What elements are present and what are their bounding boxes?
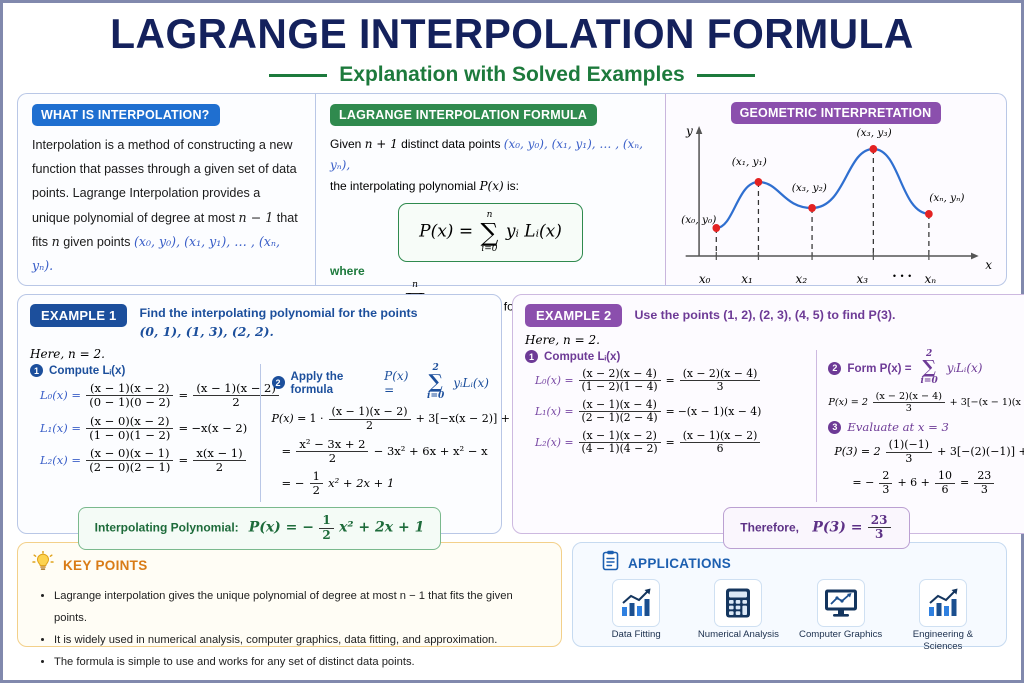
example2-L2-den2: 6 [680, 443, 761, 455]
example2-eval2-den3: 3 [974, 484, 994, 497]
example1-result-frac: 1 2 [319, 514, 333, 543]
example1-step2-label: Apply the formula [291, 370, 379, 396]
example2-prompt: Use the points (1, 2), (2, 3), (4, 5) to… [634, 304, 895, 325]
summation-icon: n ∑ i=0 [481, 211, 499, 254]
example2-sum-body: yᵢLᵢ(x) [947, 361, 983, 375]
example1-apply-coef: 1 · [309, 412, 323, 425]
example1-L1-num: (x − 0)(x − 2) [86, 415, 173, 429]
example2-result-num: 23 [868, 514, 891, 529]
example1-apply-line2: = x² − 3x + 2 2 − 3x² + 6x + x² − x [282, 438, 490, 465]
example1-L0: L₀(x) = (x − 1)(x − 2) (0 − 1)(0 − 2) = … [40, 382, 252, 409]
example2-form-frac1: (x − 2)(x − 4) 3 [873, 391, 945, 414]
example1-sum-body: yᵢLᵢ(x) [453, 376, 489, 390]
example1-L2-num2: x(x − 1) [193, 447, 245, 461]
badge-lagrange-formula: LAGRANGE INTERPOLATION FORMULA [330, 104, 597, 126]
example2-eval-num1: (1)(−1) [886, 439, 932, 453]
key-points-list: Lagrange interpolation gives the unique … [54, 586, 547, 673]
example2-L0-num2: (x − 2)(x − 4) [680, 368, 761, 381]
example1-line3-rest: x² + 2x + 1 [328, 476, 394, 490]
step-number-3: 3 [828, 421, 841, 434]
panel-geometric-interpretation: GEOMETRIC INTERPRETATION [665, 93, 1007, 286]
example1-result-num: 1 [319, 514, 333, 529]
example1-L1-den: (1 − 0)(1 − 2) [86, 429, 173, 442]
example1-here: Here, n = 2. [30, 347, 489, 361]
example2-L0-lhs: L₀(x) = [535, 374, 574, 387]
example1-line3-den: 2 [310, 484, 323, 497]
list-item: Lagrange interpolation gives the unique … [54, 586, 547, 630]
rule-left-icon [269, 74, 327, 77]
step-number-2: 2 [828, 362, 841, 375]
bar-chart-arrow-icon [919, 579, 967, 627]
example1-apply-line3: = − 1 2 x² + 2x + 1 [282, 470, 490, 497]
point-label-n: (xₙ, yₙ) [929, 192, 964, 204]
example1-L2-eq: = [179, 453, 189, 467]
example2-step2-header: 2 Form P(x) = 2 ∑ i=0 yᵢLᵢ(x) [828, 350, 1024, 386]
example1-result-box: Interpolating Polynomial: P(x) = − 1 2 x… [78, 507, 442, 550]
monitor-chart-svg [823, 588, 859, 618]
application-item-engineering-sciences[interactable]: Engineering & Sciences [893, 579, 993, 653]
example2-eval-lhs: P(3) = 2 [834, 445, 880, 458]
formula-intro-b: distinct data points [398, 137, 504, 151]
badge-example-2: EXAMPLE 2 [525, 304, 622, 327]
application-label: Data Fitting [586, 629, 686, 641]
interpolation-curve-chart: y x x₀ x₁ x₂ x₃ • • • xₙ (x₀, y₀) (x₁, y… [678, 124, 994, 282]
example2-eval2-eq2: = [960, 476, 969, 489]
example2-L2-lhs: L₂(x) = [535, 435, 574, 448]
example1-L1: L₁(x) = (x − 0)(x − 2) (1 − 0)(1 − 2) = … [40, 415, 252, 442]
example1-apply-frac1: (x − 1)(x − 2) 2 [329, 406, 411, 432]
example2-result-box: Therefore, P(3) = 23 3 [723, 507, 909, 550]
interpolation-text-3: given points [60, 235, 134, 249]
example2-L1: L₁(x) = (x − 1)(x − 4) (2 − 1)(2 − 4) = … [535, 399, 808, 425]
example2-form-line: P(x) = 2 (x − 2)(x − 4) 3 + 3[−(x − 1)(x… [828, 391, 1024, 414]
example1-L2-lhs: L₂(x) = [40, 453, 81, 467]
example2-L0: L₀(x) = (x − 2)(x − 4) (1 − 2)(1 − 4) = … [535, 368, 808, 394]
example2-L0-den2: 3 [680, 381, 761, 393]
main-formula-lhs: P(x) = [419, 222, 473, 242]
example2-L1-num: (x − 1)(x − 4) [579, 399, 661, 412]
step-number-1: 1 [525, 350, 538, 363]
summation-icon: 2 ∑ i=0 [921, 350, 938, 386]
tick-label-x3: x₃ [857, 272, 869, 286]
example2-L1-res: −(x − 1)(x − 4) [678, 405, 762, 418]
example2-eval2-frac2: 10 6 [935, 470, 955, 496]
example1-prompt-line1: Find the interpolating polynomial for th… [139, 306, 417, 320]
infographic-poster: LAGRANGE INTERPOLATION FORMULA Explanati… [0, 0, 1024, 683]
example2-eval2-mid: + 6 + [897, 476, 929, 489]
interpolation-degree: n − 1 [239, 210, 274, 225]
example2-sum-lower: i=0 [921, 377, 938, 386]
page-subtitle: Explanation with Solved Examples [339, 63, 684, 87]
example2-L1-frac: (x − 1)(x − 4) (2 − 1)(2 − 4) [579, 399, 661, 425]
point-label-3: (x₃, y₃) [857, 127, 892, 139]
step-number-1: 1 [30, 364, 43, 377]
summation-icon: 2 ∑ i=0 [427, 364, 444, 401]
badge-geometric-interpretation: GEOMETRIC INTERPRETATION [731, 102, 942, 124]
panel-example-1: EXAMPLE 1 Find the interpolating polynom… [17, 294, 502, 534]
calculator-svg [724, 587, 752, 619]
example2-eval2-eq: = − [852, 476, 874, 489]
example1-L2-frac1: (x − 0)(x − 1) (2 − 0)(2 − 1) [86, 447, 173, 474]
formula-intro-P: P(x) [479, 179, 503, 193]
example1-columns: 1 Compute Lᵢ(x) L₀(x) = (x − 1)(x − 2) (… [30, 364, 489, 502]
example2-form-lhs: P(x) = 2 [828, 397, 868, 408]
example1-result-lhs: P(x) = − [249, 520, 314, 536]
list-item: The formula is simple to use and works f… [54, 652, 547, 674]
example1-L2-den2: 2 [193, 461, 245, 474]
formula-intro-c: the interpolating polynomial [330, 179, 479, 193]
example2-form-num1: (x − 2)(x − 4) [873, 391, 945, 403]
example2-header: EXAMPLE 2 Use the points (1, 2), (2, 3),… [525, 304, 1024, 327]
example1-result-rest: x² + 2x + 1 [339, 520, 424, 536]
example1-result-label: Interpolating Polynomial: [95, 521, 239, 535]
ellipsis-icon: • • • [893, 271, 912, 281]
bar-chart-arrow-svg [926, 587, 960, 619]
application-label: Numerical Analysis [688, 629, 788, 641]
application-label: Engineering & Sciences [893, 629, 993, 653]
example2-form-mid: + 3[−(x − 1)(x − 4)] + 5 · [950, 397, 1024, 408]
example2-here: Here, n = 2. [525, 333, 1024, 347]
page-title: LAGRANGE INTERPOLATION FORMULA [32, 13, 992, 55]
example2-eval-mid: + 3[−(2)(−1)] + 5 [937, 445, 1024, 458]
example1-L0-lhs: L₀(x) = [40, 388, 81, 402]
example1-L1-res: −x(x − 2) [191, 420, 247, 434]
example2-L1-eq: = [666, 405, 675, 418]
example1-step2-header: 2 Apply the formula P(x) = 2 ∑ i=0 yᵢLᵢ(… [272, 364, 490, 401]
example2-L2: L₂(x) = (x − 1)(x − 2) (4 − 1)(4 − 2) = … [535, 430, 808, 456]
monitor-chart-icon [817, 579, 865, 627]
key-points-header: KEY POINTS [32, 551, 547, 580]
example1-L0-eq: = [179, 388, 189, 402]
example2-L1-lhs: L₁(x) = [535, 405, 574, 418]
example2-L1-den: (2 − 1)(2 − 4) [579, 412, 661, 424]
example1-step1-column: 1 Compute Lᵢ(x) L₀(x) = (x − 1)(x − 2) (… [30, 364, 260, 502]
sigma-glyph: ∑ [429, 373, 443, 392]
example1-result-bar: Interpolating Polynomial: P(x) = − 1 2 x… [30, 507, 489, 550]
badge-example-1: EXAMPLE 1 [30, 304, 127, 327]
example2-step1-header: 1 Compute Lᵢ(x) [525, 350, 808, 363]
formula-intro-d: is: [504, 179, 519, 193]
example2-L0-eq: = [666, 374, 675, 387]
formula-intro-n: n + 1 [365, 137, 398, 151]
calculator-icon [714, 579, 762, 627]
subtitle-row: Explanation with Solved Examples [17, 63, 1007, 87]
example1-line2-num: x² − 3x + 2 [296, 438, 368, 452]
tick-label-x0: x₀ [699, 272, 711, 286]
point-label-0: (x₀, y₀) [681, 214, 716, 226]
example1-L0-den1: (0 − 1)(0 − 2) [86, 396, 173, 409]
example2-L0-frac2: (x − 2)(x − 4) 3 [680, 368, 761, 394]
example2-L0-den1: (1 − 2)(1 − 4) [579, 381, 661, 393]
example1-L2-num1: (x − 0)(x − 1) [86, 447, 173, 461]
example1-line2-frac: x² − 3x + 2 2 [296, 438, 368, 465]
example1-L2-den1: (2 − 0)(2 − 1) [86, 461, 173, 474]
step-number-2: 2 [272, 376, 285, 389]
list-item: It is widely used in numerical analysis,… [54, 630, 547, 652]
application-item-data-fitting[interactable]: Data Fitting [586, 579, 686, 653]
panel-applications: APPLICATIONS Data Fitting [572, 542, 1007, 647]
example1-apply-line1: P(x) = 1 · (x − 1)(x − 2) 2 + 3[−x(x − 2… [272, 406, 490, 432]
example1-line2-den: 2 [296, 452, 368, 465]
example1-apply-den1: 2 [329, 420, 411, 433]
example2-step3-label: Evaluate at x = 3 [847, 420, 948, 434]
example1-header: EXAMPLE 1 Find the interpolating polynom… [30, 304, 489, 341]
example2-L2-num1: (x − 1)(x − 2) [579, 430, 661, 443]
example2-result-den: 3 [868, 528, 891, 542]
interpolation-n: n [52, 234, 60, 249]
lightbulb-icon [32, 551, 54, 580]
applications-header: APPLICATIONS [601, 550, 994, 576]
example1-apply-lhs: P(x) = [272, 412, 307, 425]
example1-L1-eq: = [179, 420, 189, 434]
example2-eval-frac1: (1)(−1) 3 [886, 439, 932, 465]
panel-what-is-interpolation: WHAT IS INTERPOLATION? Interpolation is … [17, 93, 315, 286]
example2-result-bar: Therefore, P(3) = 23 3 [525, 507, 1024, 550]
example1-L1-lhs: L₁(x) = [40, 420, 81, 434]
example1-line3-frac: 1 2 [310, 470, 323, 497]
example1-line2-eq: = [282, 443, 292, 457]
lightbulb-svg [32, 551, 54, 575]
tick-label-x1: x₁ [741, 272, 753, 286]
clipboard-svg [601, 550, 620, 571]
example2-L2-den1: (4 − 1)(4 − 2) [579, 443, 661, 455]
applications-items: Data Fitting [585, 579, 994, 653]
tick-label-x2: x₂ [796, 272, 808, 286]
example2-step1-column: 1 Compute Lᵢ(x) L₀(x) = (x − 2)(x − 4) (… [525, 350, 816, 502]
bar-chart-trend-svg [619, 587, 653, 619]
example2-L2-num2: (x − 1)(x − 2) [680, 430, 761, 443]
rule-right-icon [697, 74, 755, 77]
example1-apply-mid: + 3[−x(x − 2)] + 2 · [416, 412, 528, 425]
example1-L2: L₂(x) = (x − 0)(x − 1) (2 − 0)(2 − 1) = … [40, 447, 252, 474]
example2-eval2-den1: 3 [879, 484, 892, 497]
application-item-numerical-analysis[interactable]: Numerical Analysis [688, 579, 788, 653]
sigma-glyph: ∑ [922, 359, 936, 377]
point-label-1: (x₁, y₁) [732, 156, 767, 168]
example2-step3-header: 3 Evaluate at x = 3 [828, 420, 1024, 434]
formula-intro-a: Given [330, 137, 365, 151]
where-label: where [330, 264, 651, 278]
example2-eval2-den2: 6 [935, 484, 955, 497]
panel-lagrange-formula: LAGRANGE INTERPOLATION FORMULA Given n +… [315, 93, 665, 286]
example1-step2-Plhs: P(x) = [384, 369, 418, 397]
example2-L0-frac1: (x − 2)(x − 4) (1 − 2)(1 − 4) [579, 368, 661, 394]
example2-eval2-num2: 10 [935, 470, 955, 484]
example1-step1-label: Compute Lᵢ(x) [49, 364, 125, 377]
axis-label-y: y [686, 124, 693, 138]
example2-L2-frac2: (x − 1)(x − 2) 6 [680, 430, 761, 456]
example2-result-frac: 23 3 [868, 514, 891, 543]
bar-chart-trend-icon [612, 579, 660, 627]
example2-columns: 1 Compute Lᵢ(x) L₀(x) = (x − 2)(x − 4) (… [525, 350, 1024, 502]
main-formula-box: P(x) = n ∑ i=0 yᵢ Lᵢ(x) [398, 203, 583, 262]
example1-L2-frac2: x(x − 1) 2 [193, 447, 245, 474]
examples-row: EXAMPLE 1 Find the interpolating polynom… [17, 294, 1007, 534]
bottom-row: KEY POINTS Lagrange interpolation gives … [17, 542, 1007, 647]
sigma-glyph: ∑ [481, 220, 499, 245]
interpolation-paragraph: Interpolation is a method of constructin… [32, 133, 301, 278]
example2-eval2-num3: 23 [974, 470, 994, 484]
example2-L2-frac1: (x − 1)(x − 2) (4 − 1)(4 − 2) [579, 430, 661, 456]
clipboard-icon [601, 550, 620, 576]
example2-eval2-num1: 2 [879, 470, 892, 484]
application-label: Computer Graphics [791, 629, 891, 641]
example1-prompt-line2: (0, 1), (1, 3), (2, 2). [139, 324, 273, 339]
example2-L0-num1: (x − 2)(x − 4) [579, 368, 661, 381]
point-label-2: (x₃, y₂) [792, 182, 827, 194]
example2-eval-line2: = − 2 3 + 6 + 10 6 = 23 3 [852, 470, 1024, 496]
example2-result-label: Therefore, [740, 520, 799, 534]
panel-example-2: EXAMPLE 2 Use the points (1, 2), (2, 3),… [512, 294, 1024, 534]
example1-L0-num1: (x − 1)(x − 2) [86, 382, 173, 396]
example1-L0-frac1: (x − 1)(x − 2) (0 − 1)(0 − 2) [86, 382, 173, 409]
example2-eval-den1: 3 [886, 453, 932, 466]
example2-step2-label: Form P(x) = [847, 362, 911, 375]
example2-eval-line1: P(3) = 2 (1)(−1) 3 + 3[−(2)(−1)] + 5 (2)… [834, 439, 1024, 465]
example1-prompt: Find the interpolating polynomial for th… [139, 304, 417, 341]
tick-label-xn: xₙ [924, 272, 936, 286]
axis-label-x: x [985, 258, 992, 272]
panel-key-points: KEY POINTS Lagrange interpolation gives … [17, 542, 562, 647]
poster-header: LAGRANGE INTERPOLATION FORMULA Explanati… [17, 11, 1007, 87]
formula-intro: Given n + 1 distinct data points (x₀, y₀… [330, 134, 651, 197]
example2-eval2-frac3: 23 3 [974, 470, 994, 496]
application-item-computer-graphics[interactable]: Computer Graphics [791, 579, 891, 653]
example1-apply-num1: (x − 1)(x − 2) [329, 406, 411, 420]
example2-form-den1: 3 [873, 403, 945, 414]
example1-step1-header: 1 Compute Lᵢ(x) [30, 364, 252, 377]
example2-step1-label: Compute Lᵢ(x) [544, 350, 620, 363]
example2-eval2-frac1: 2 3 [879, 470, 892, 496]
example1-line3-num: 1 [310, 470, 323, 484]
example1-sum-lower: i=0 [427, 392, 444, 401]
example1-line2-rest: − 3x² + 6x + x² − x [374, 443, 488, 457]
example2-L2-eq: = [666, 435, 675, 448]
applications-title: APPLICATIONS [628, 556, 731, 571]
main-formula-body: yᵢ Lᵢ(x) [506, 222, 562, 242]
example1-L1-frac: (x − 0)(x − 2) (1 − 0)(1 − 2) [86, 415, 173, 442]
example1-line3-eq: = − [282, 476, 305, 490]
example1-step2-column: 2 Apply the formula P(x) = 2 ∑ i=0 yᵢLᵢ(… [260, 364, 490, 502]
example2-steps-column: 2 Form P(x) = 2 ∑ i=0 yᵢLᵢ(x) P(x) = 2 (… [816, 350, 1024, 502]
key-points-title: KEY POINTS [63, 558, 148, 573]
badge-what-is-interpolation: WHAT IS INTERPOLATION? [32, 104, 220, 126]
sum-lower-limit: i=0 [481, 245, 497, 254]
top-panels-row: WHAT IS INTERPOLATION? Interpolation is … [17, 93, 1007, 286]
example1-result-den: 2 [319, 529, 333, 543]
example2-result-lhs: P(3) = [812, 519, 862, 535]
